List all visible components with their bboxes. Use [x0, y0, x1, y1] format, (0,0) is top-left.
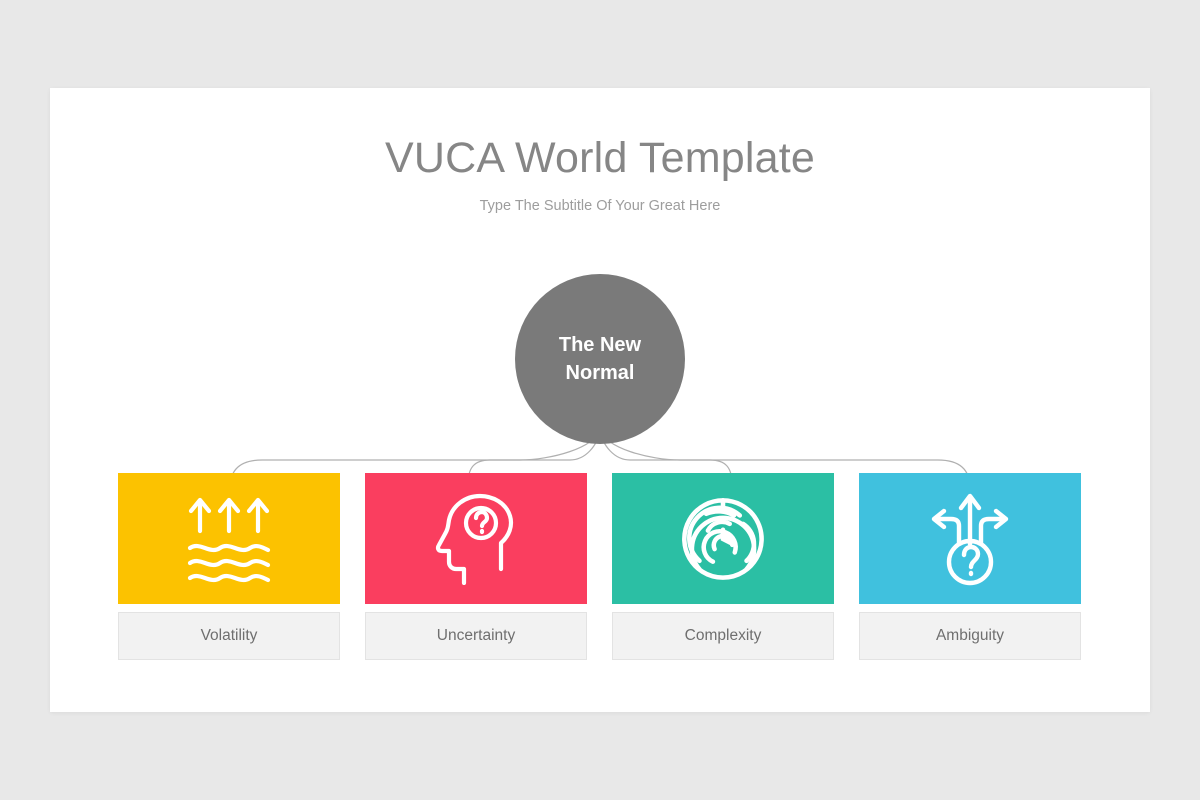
page-title: VUCA World Template	[50, 134, 1150, 183]
card-label-ambiguity[interactable]: Ambiguity	[859, 612, 1081, 660]
arrows-over-waves-icon	[186, 495, 272, 583]
card-uncertainty[interactable]: Uncertainty	[365, 473, 587, 660]
center-node[interactable]: The New Normal	[515, 274, 685, 444]
slide-canvas: VUCA World Template Type The Subtitle Of…	[50, 88, 1150, 712]
card-label-uncertainty[interactable]: Uncertainty	[365, 612, 587, 660]
page-subtitle: Type The Subtitle Of Your Great Here	[50, 198, 1150, 214]
head-question-mark-icon	[435, 493, 517, 585]
tile-volatility[interactable]	[118, 473, 340, 604]
card-volatility[interactable]: Volatility	[118, 473, 340, 660]
tile-uncertainty[interactable]	[365, 473, 587, 604]
maze-labyrinth-icon	[681, 497, 765, 581]
card-complexity[interactable]: Complexity	[612, 473, 834, 660]
card-label-complexity[interactable]: Complexity	[612, 612, 834, 660]
tile-ambiguity[interactable]	[859, 473, 1081, 604]
three-way-arrows-question-icon	[927, 492, 1013, 586]
vuca-card-list: Volatility Uncertainty	[118, 473, 1081, 660]
card-label-volatility[interactable]: Volatility	[118, 612, 340, 660]
center-node-label: The New Normal	[540, 331, 660, 387]
tile-complexity[interactable]	[612, 473, 834, 604]
card-ambiguity[interactable]: Ambiguity	[859, 473, 1081, 660]
